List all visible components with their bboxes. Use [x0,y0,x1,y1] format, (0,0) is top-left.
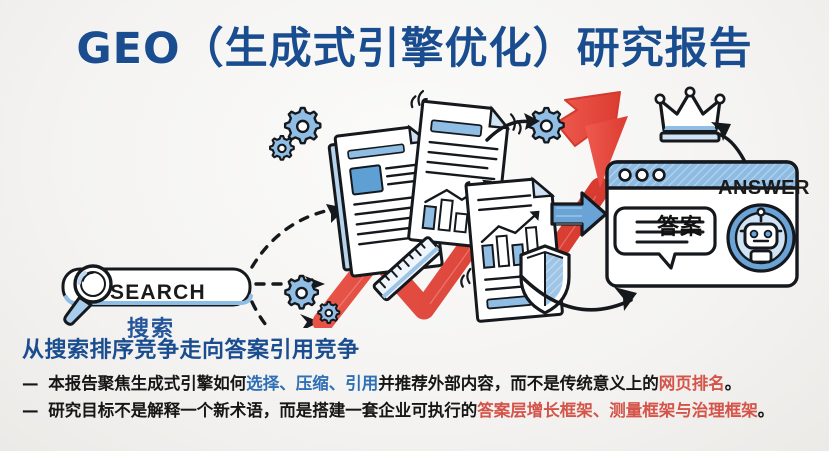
answer-caption-cn: 答案 [657,209,703,241]
bullet-text-dark: 研究目标不是解释一个新术语，而是搭建一套企业可执行的 [48,401,477,420]
gear-icon [270,136,294,160]
search-label: SEARCH [110,281,206,305]
bullet-list: — 本报告聚焦生成式引擎如何选择、压缩、引用并推荐外部内容，而不是传统意义上的网… [22,371,822,424]
gear-icon [318,302,339,323]
subheading: 从搜索排序竞争走向答案引用竞争 [22,332,822,364]
poster-canvas: GEO（生成式引擎优化）研究报告 [0,0,829,451]
bullet-text-red: 答案层增长框架、测量框架与治理框架 [477,401,758,420]
bullet-text-dark: 并推荐外部内容，而不是传统意义上的 [378,374,659,393]
illustration: SEARCH 搜索 ANSWER 答案 [0,78,829,328]
bullet-text-blue: 选择、压缩、引用 [246,374,378,393]
bullet-line: — 研究目标不是解释一个新术语，而是搭建一套企业可执行的答案层增长框架、测量框架… [22,398,822,425]
summary-block: 从搜索排序竞争走向答案引用竞争 — 本报告聚焦生成式引擎如何选择、压缩、引用并推… [22,332,822,424]
bullet-text-dark: 。 [758,401,775,420]
gear-icon [285,276,317,308]
page-title: GEO（生成式引擎优化）研究报告 [0,14,829,76]
gear-icon [529,108,563,142]
dashed-arrow-icon [252,210,330,328]
robot-icon [728,205,794,271]
window-dots-icon [620,170,665,181]
bullet-line: — 本报告聚焦生成式引擎如何选择、压缩、引用并推荐外部内容，而不是传统意义上的网… [22,371,822,398]
bullet-dash: — [22,374,48,393]
gear-icon [285,108,320,143]
bullet-text-dark: 本报告聚焦生成式引擎如何 [48,374,246,393]
bullet-dash: — [22,401,48,420]
crown-icon [656,88,724,141]
answer-label: ANSWER [718,177,810,200]
bullet-text-dark: 。 [725,374,742,393]
bullet-text-red: 网页排名 [659,374,725,393]
